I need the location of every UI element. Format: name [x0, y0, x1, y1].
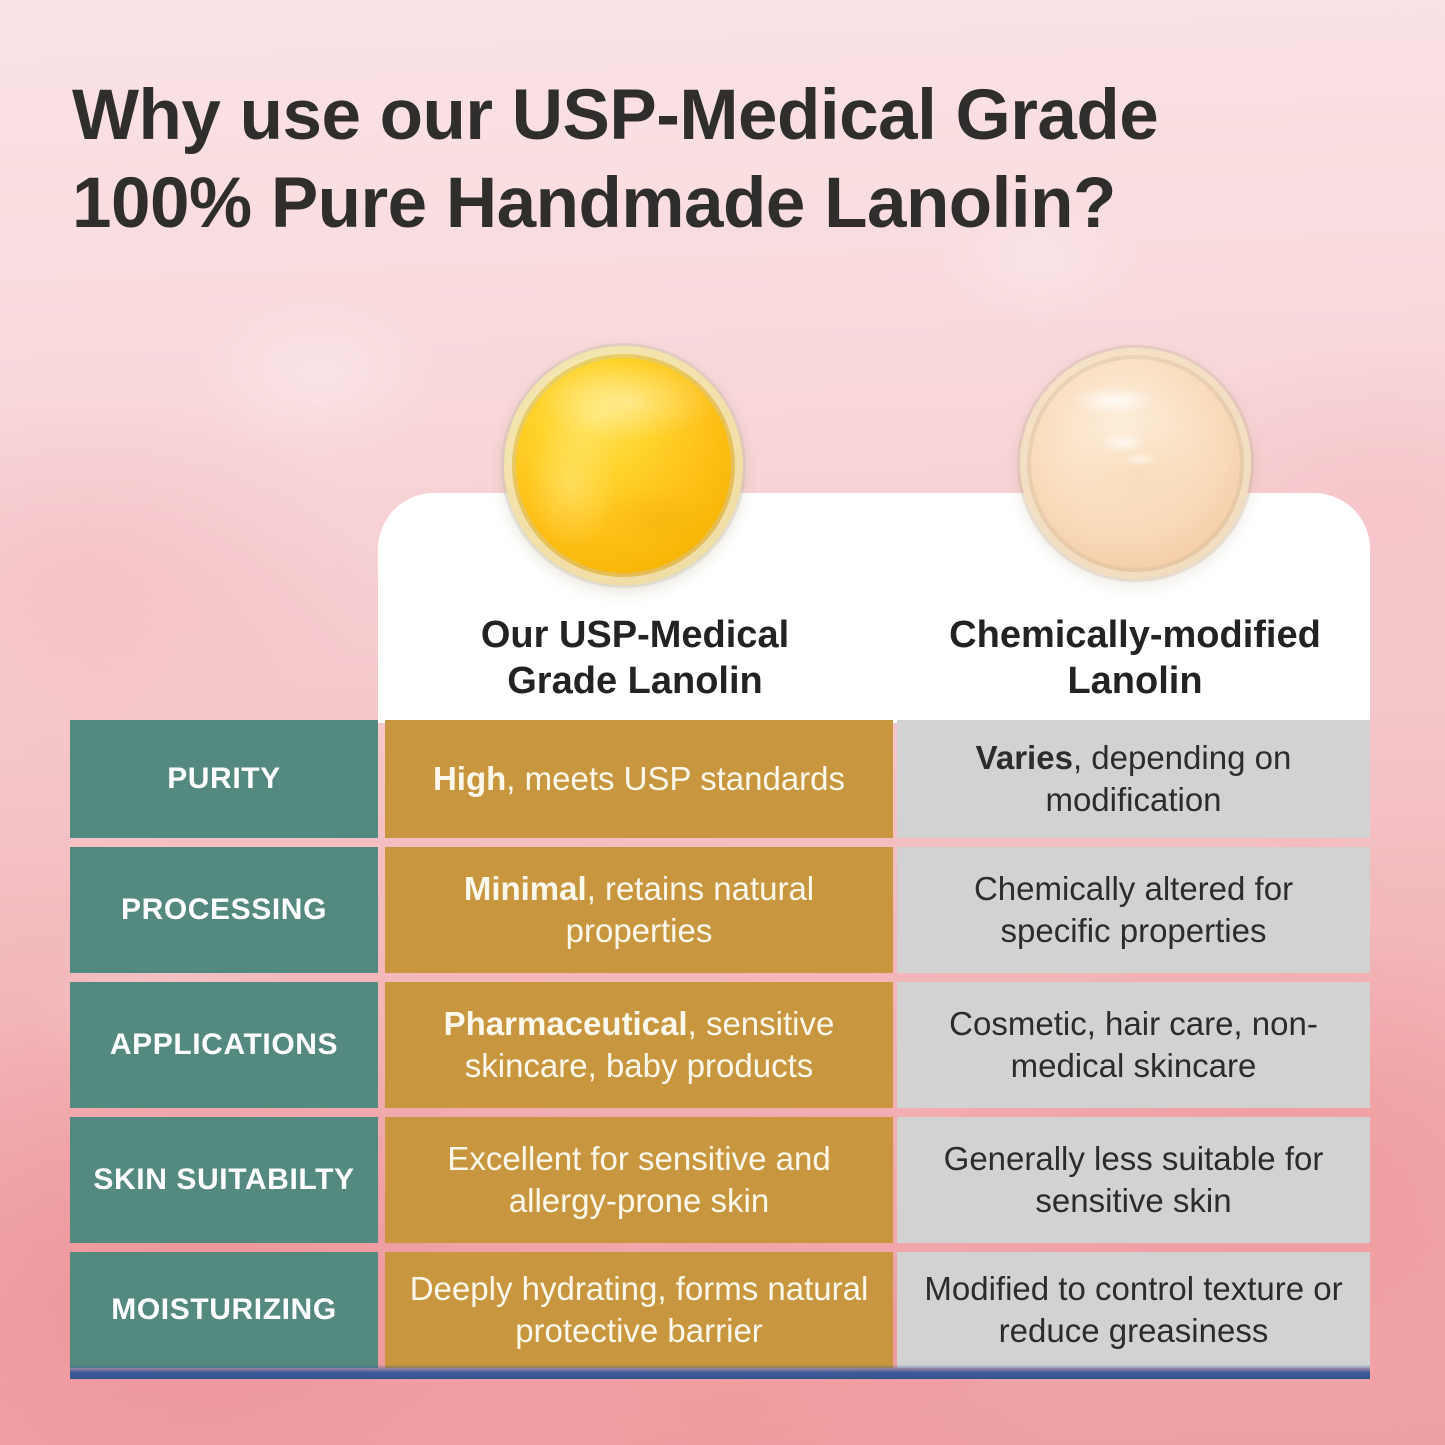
cell-chem-skin-suitability: Generally less suitable for sensitive sk… [897, 1117, 1370, 1243]
cell-chem-processing-rest: Chemically altered for specific properti… [974, 870, 1293, 949]
column-header-chemical-lanolin-line-1: Chemically-modified [949, 614, 1321, 656]
page-title: Why use our USP-Medical Grade 100% Pure … [72, 72, 1382, 248]
cell-chem-purity: Varies, depending on modification [897, 720, 1370, 838]
row-label-purity: PURITY [70, 720, 378, 838]
cell-ours-processing-bold: Minimal [464, 870, 587, 907]
product-jar-our-lanolin-icon [504, 346, 743, 585]
table-row: PROCESSING Minimal, retains natural prop… [70, 847, 1370, 973]
row-label-processing: PROCESSING [70, 847, 378, 973]
cell-chem-applications: Cosmetic, hair care, non-medical skincar… [897, 982, 1370, 1108]
cell-chem-skin-suitability-rest: Generally less suitable for sensitive sk… [944, 1140, 1324, 1219]
row-label-moisturizing: MOISTURIZING [70, 1252, 378, 1368]
table-row: MOISTURIZING Deeply hydrating, forms nat… [70, 1252, 1370, 1368]
cell-ours-skin-suitability: Excellent for sensitive and allergy-pron… [385, 1117, 893, 1243]
cell-ours-applications: Pharmaceutical, sensitive skincare, baby… [385, 982, 893, 1108]
column-header-chemical-lanolin-line-2: Lanolin [1067, 660, 1202, 702]
cell-chem-applications-rest: Cosmetic, hair care, non-medical skincar… [949, 1005, 1318, 1084]
cell-chem-moisturizing-rest: Modified to control texture or reduce gr… [924, 1270, 1342, 1349]
cell-ours-applications-bold: Pharmaceutical [444, 1005, 688, 1042]
infographic-page: Why use our USP-Medical Grade 100% Pure … [0, 0, 1445, 1445]
table-row: APPLICATIONS Pharmaceutical, sensitive s… [70, 982, 1370, 1108]
cell-ours-purity: High, meets USP standards [385, 720, 893, 838]
cell-ours-processing: Minimal, retains natural properties [385, 847, 893, 973]
table-row: PURITY High, meets USP standards Varies,… [70, 720, 1370, 838]
cell-ours-purity-rest: , meets USP standards [506, 760, 845, 797]
row-label-skin-suitability: SKIN SUITABILTY [70, 1117, 378, 1243]
comparison-table: PURITY High, meets USP standards Varies,… [70, 720, 1370, 1377]
cell-ours-skin-suitability-rest: Excellent for sensitive and allergy-pron… [447, 1140, 830, 1219]
product-jar-chemical-lanolin-icon [1020, 348, 1251, 579]
cell-chem-purity-rest: , depending on modification [1045, 739, 1291, 818]
cell-ours-processing-rest: , retains natural properties [566, 870, 815, 949]
cell-ours-moisturizing-rest: Deeply hydrating, forms natural protecti… [410, 1270, 869, 1349]
cell-chem-processing: Chemically altered for specific properti… [897, 847, 1370, 973]
row-label-applications: APPLICATIONS [70, 982, 378, 1108]
bottom-accent-bar [70, 1365, 1370, 1379]
column-header-chemical-lanolin: Chemically-modified Lanolin [900, 612, 1370, 705]
title-line-2: 100% Pure Handmade Lanolin? [72, 160, 1382, 248]
title-line-1: Why use our USP-Medical Grade [72, 72, 1382, 160]
cell-chem-moisturizing: Modified to control texture or reduce gr… [897, 1252, 1370, 1368]
table-row: SKIN SUITABILTY Excellent for sensitive … [70, 1117, 1370, 1243]
cell-chem-purity-bold: Varies [976, 739, 1073, 776]
column-header-our-lanolin-line-1: Our USP-Medical [481, 614, 789, 656]
cell-ours-moisturizing: Deeply hydrating, forms natural protecti… [385, 1252, 893, 1368]
cell-ours-purity-bold: High [433, 760, 506, 797]
column-header-our-lanolin-line-2: Grade Lanolin [507, 660, 762, 702]
column-header-our-lanolin: Our USP-Medical Grade Lanolin [400, 612, 870, 705]
